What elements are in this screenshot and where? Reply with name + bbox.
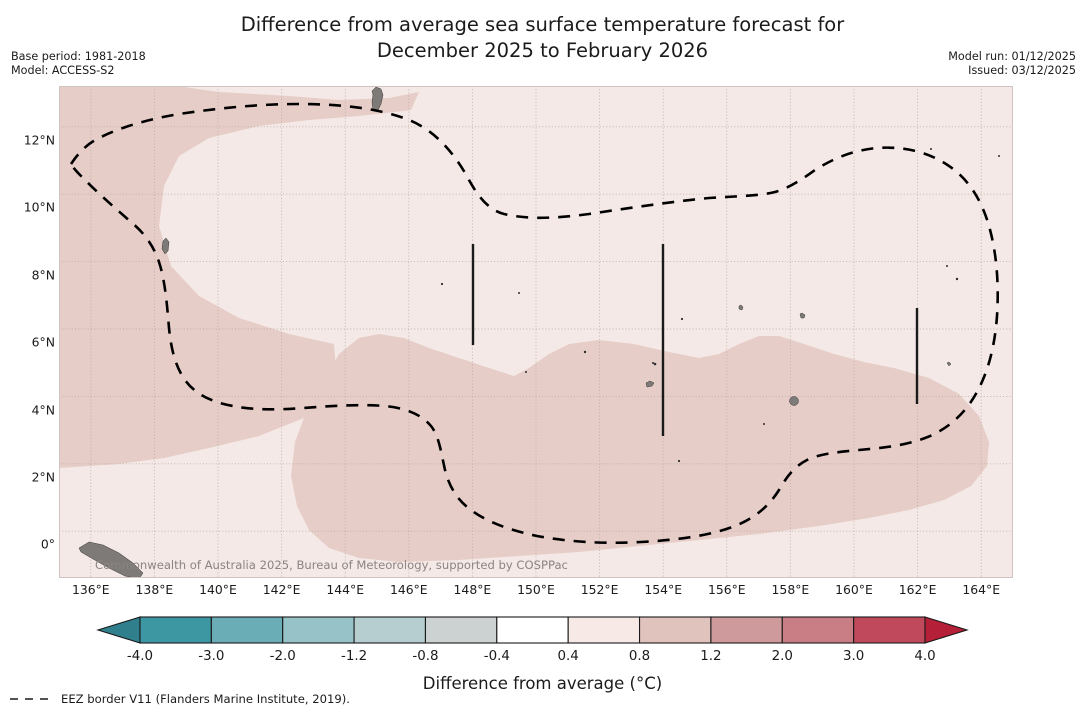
longitude-tick-label: 138°E (136, 582, 174, 597)
latitude-tick-label: 10°N (3, 200, 55, 215)
colorbar-band (211, 617, 282, 643)
longitude-tick-label: 160°E (835, 582, 873, 597)
colorbar-tick-label: -3.0 (198, 649, 224, 664)
colorbar-band (425, 617, 496, 643)
latitude-tick-label: 6°N (3, 335, 55, 350)
latitude-tick-label: 4°N (3, 402, 55, 417)
colorbar-tick-label: -2.0 (270, 649, 296, 664)
longitude-tick-label: 140°E (199, 582, 237, 597)
colorbar-band (354, 617, 425, 643)
colorbar-tick-label: -1.2 (341, 649, 367, 664)
colorbar-extend-low (98, 617, 140, 643)
colorbar-band (497, 617, 568, 643)
longitude-tick-label: 154°E (644, 582, 682, 597)
colorbar-band (140, 617, 211, 643)
longitude-tick-label: 148°E (454, 582, 492, 597)
latitude-tick-label: 2°N (3, 469, 55, 484)
colorbar-tick-label: 0.8 (629, 649, 650, 664)
longitude-tick-label: 152°E (581, 582, 619, 597)
metadata-left: Base period: 1981-2018 Model: ACCESS-S2 (11, 50, 146, 78)
page-title: Difference from average sea surface temp… (0, 12, 1085, 64)
eez-legend-text: EEZ border V11 (Flanders Marine Institut… (61, 692, 350, 706)
colorbar-extend-high (925, 617, 967, 643)
colorbar-band (640, 617, 711, 643)
base-period-text: Base period: 1981-2018 (11, 50, 146, 64)
model-text: Model: ACCESS-S2 (11, 64, 146, 78)
longitude-tick-label: 162°E (899, 582, 937, 597)
longitude-tick-label: 142°E (263, 582, 301, 597)
colorbar-band (568, 617, 639, 643)
map-attribution: Commonwealth of Australia 2025, Bureau o… (95, 558, 568, 572)
colorbar-tick-label: -0.8 (412, 649, 438, 664)
colorbar-tick-label: 0.4 (558, 649, 579, 664)
colorbar-band (711, 617, 782, 643)
sst-anomaly-map[interactable] (59, 86, 1013, 578)
colorbar-tick-label: -4.0 (127, 649, 153, 664)
longitude-axis: 136°E138°E140°E142°E144°E146°E148°E150°E… (59, 582, 1013, 602)
longitude-tick-label: 156°E (708, 582, 746, 597)
colorbar-tick-label: 1.2 (700, 649, 721, 664)
longitude-tick-label: 144°E (326, 582, 364, 597)
metadata-right: Model run: 01/12/2025 Issued: 03/12/2025 (948, 50, 1076, 78)
longitude-tick-label: 150°E (517, 582, 555, 597)
longitude-tick-label: 158°E (772, 582, 810, 597)
longitude-tick-label: 136°E (72, 582, 110, 597)
issued-text: Issued: 03/12/2025 (948, 64, 1076, 78)
colorbar-bands (98, 617, 967, 643)
colorbar-tick-label: 2.0 (772, 649, 793, 664)
longitude-tick-label: 164°E (962, 582, 1000, 597)
colorbar-tick-label: -0.4 (484, 649, 510, 664)
eez-dash-sample (9, 694, 55, 704)
colorbar-band (283, 617, 354, 643)
colorbar-band (854, 617, 925, 643)
latitude-axis: 0°2°N4°N6°N8°N10°N12°N (0, 86, 55, 578)
colorbar-label: Difference from average (°C) (0, 674, 1085, 693)
latitude-tick-label: 0° (3, 537, 55, 552)
longitude-tick-label: 146°E (390, 582, 428, 597)
latitude-tick-label: 12°N (3, 132, 55, 147)
model-run-text: Model run: 01/12/2025 (948, 50, 1076, 64)
colorbar-tick-label: 4.0 (914, 649, 935, 664)
colorbar-tick-label: 3.0 (843, 649, 864, 664)
latitude-tick-label: 8°N (3, 267, 55, 282)
eez-legend: EEZ border V11 (Flanders Marine Institut… (9, 692, 350, 706)
colorbar-band (782, 617, 853, 643)
